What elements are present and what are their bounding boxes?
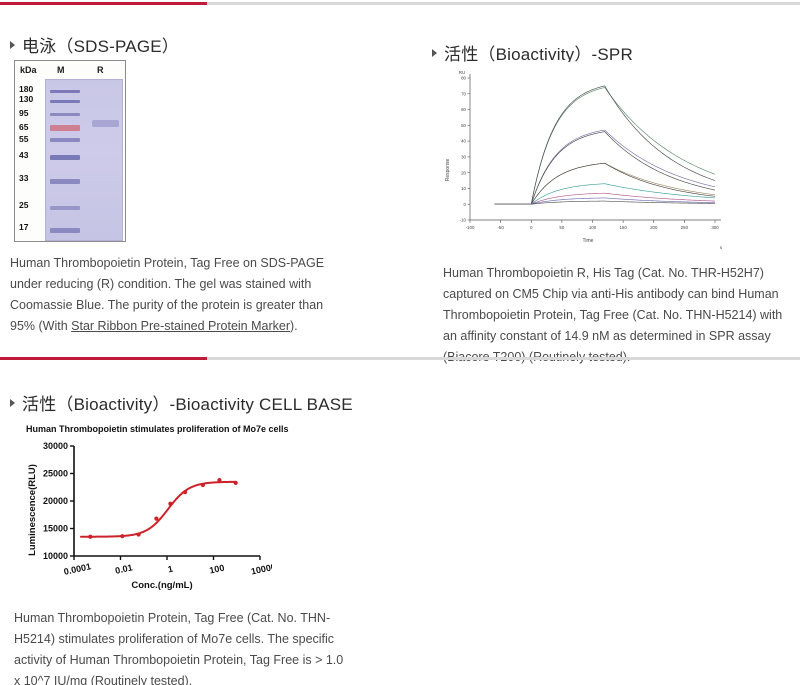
gel-marker-band-180 [50, 90, 80, 93]
gel-mw-label-33: 33 [19, 174, 28, 183]
spr-y-axis-unit: RU [459, 70, 466, 75]
section-title-bioactivity-cell-base: 活性（Bioactivity）-Bioactivity CELL BASE [10, 390, 353, 415]
triangle-bullet-icon [10, 399, 15, 407]
spr-curve-group [495, 86, 716, 204]
dose-response-y-axis-label: Luminescence(RLU) [27, 464, 38, 556]
spr-caption: Human Thrombopoietin R, His Tag (Cat. No… [443, 263, 793, 368]
gel-sample-band-r [92, 120, 119, 127]
svg-text:10000: 10000 [43, 551, 68, 561]
dose-response-plot-svg: 10000150002000025000300000.00010.0111001… [22, 438, 272, 592]
gel-marker-band-65 [50, 125, 80, 131]
sds-page-gel-image: kDa M R 180 130 95 65 55 43 33 25 17 [14, 60, 126, 242]
product-validation-page: 电泳（SDS-PAGE） kDa M R 180 130 95 65 55 43… [0, 0, 800, 685]
svg-text:0.0001: 0.0001 [63, 561, 92, 577]
divider-accent [0, 357, 207, 360]
spr-x-axis: -100-50050100150200250300 [466, 220, 721, 230]
protein-marker-link[interactable]: Star Ribbon Pre-stained Protein Marker [71, 319, 290, 333]
gel-lane-area [45, 79, 123, 241]
svg-text:0: 0 [464, 202, 467, 207]
dose-response-points [88, 478, 238, 539]
spr-x-axis-label: Time [583, 238, 594, 244]
gel-marker-band-43 [50, 155, 80, 160]
gel-mw-label-180: 180 [19, 85, 33, 94]
section-divider-middle [0, 357, 800, 360]
gel-mw-label-95: 95 [19, 109, 28, 118]
svg-text:0.01: 0.01 [114, 562, 133, 575]
section-title-cell-base-label: 活性（Bioactivity）-Bioactivity CELL BASE [22, 395, 353, 414]
gel-mw-label-43: 43 [19, 151, 28, 160]
spr-y-axis-label: Response [445, 159, 451, 182]
svg-text:50: 50 [461, 123, 466, 128]
svg-text:20: 20 [461, 170, 466, 175]
gel-mw-label-17: 17 [19, 223, 28, 232]
svg-text:30: 30 [461, 154, 466, 159]
gel-marker-band-25 [50, 206, 80, 210]
svg-text:100: 100 [589, 225, 597, 230]
spr-plot-svg: -1001020304050607080 -100-50050100150200… [440, 62, 730, 252]
section-title-sds-page-label: 电泳（SDS-PAGE） [22, 37, 179, 56]
svg-text:80: 80 [461, 76, 466, 81]
svg-text:150: 150 [619, 225, 627, 230]
dose-response-curve [81, 482, 235, 537]
svg-text:50: 50 [559, 225, 564, 230]
gel-marker-band-130 [50, 100, 80, 103]
chart-title: Human Thrombopoietin stimulates prolifer… [26, 424, 289, 434]
gel-marker-band-33 [50, 179, 80, 184]
spr-x-axis-unit: s [720, 245, 723, 250]
svg-text:20000: 20000 [43, 496, 68, 506]
triangle-bullet-icon [10, 41, 15, 49]
spr-y-axis: -1001020304050607080 [460, 74, 470, 223]
svg-text:60: 60 [461, 107, 466, 112]
svg-text:1: 1 [167, 564, 174, 575]
sds-caption-text-after: ). [290, 319, 298, 333]
spr-sensorgram-chart: -1001020304050607080 -100-50050100150200… [440, 62, 730, 252]
svg-text:25000: 25000 [43, 469, 68, 479]
triangle-bullet-icon [432, 49, 437, 57]
gel-lane-label-m: M [57, 65, 65, 75]
svg-text:-50: -50 [497, 225, 504, 230]
gel-mw-label-130: 130 [19, 95, 33, 104]
gel-header-kda: kDa [20, 65, 37, 75]
svg-text:300: 300 [711, 225, 719, 230]
svg-text:-10: -10 [460, 218, 467, 223]
svg-text:30000: 30000 [43, 441, 68, 451]
dose-response-x-axis-label: Conc.(ng/mL) [131, 580, 192, 591]
gel-marker-band-17 [50, 228, 80, 233]
sds-page-caption: Human Thrombopoietin Protein, Tag Free o… [10, 253, 340, 337]
dose-response-axes: 10000150002000025000300000.00010.0111001… [43, 441, 272, 577]
bioactivity-cell-caption: Human Thrombopoietin Protein, Tag Free (… [14, 608, 344, 685]
gel-mw-label-65: 65 [19, 123, 28, 132]
gel-mw-label-25: 25 [19, 201, 28, 210]
svg-text:0: 0 [530, 225, 533, 230]
svg-text:15000: 15000 [43, 524, 68, 534]
svg-text:200: 200 [650, 225, 658, 230]
gel-marker-band-55 [50, 138, 80, 142]
svg-text:250: 250 [681, 225, 689, 230]
gel-mw-label-55: 55 [19, 135, 28, 144]
svg-text:100: 100 [208, 563, 225, 576]
svg-text:10000: 10000 [250, 562, 272, 577]
svg-text:70: 70 [461, 91, 466, 96]
svg-text:40: 40 [461, 139, 466, 144]
mo7e-dose-response-chart: Human Thrombopoietin stimulates prolifer… [22, 424, 272, 592]
divider-accent [0, 2, 207, 5]
gel-lane-label-r: R [97, 65, 104, 75]
svg-text:10: 10 [461, 186, 466, 191]
svg-text:-100: -100 [466, 225, 475, 230]
section-title-sds-page: 电泳（SDS-PAGE） [10, 32, 179, 57]
gel-marker-band-95 [50, 113, 80, 116]
section-divider-top [0, 2, 800, 5]
